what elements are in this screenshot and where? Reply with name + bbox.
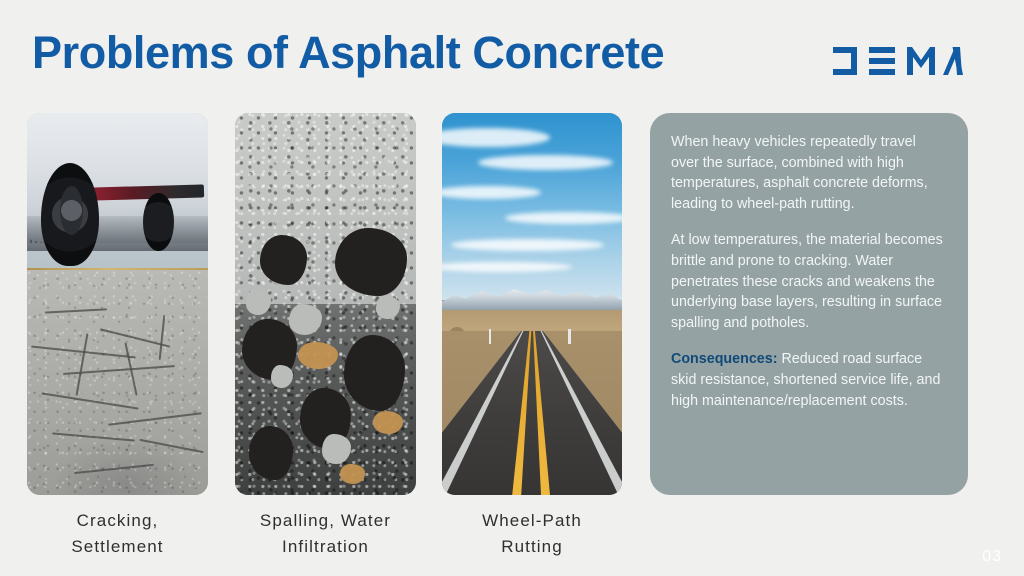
info-paragraph-1: When heavy vehicles repeatedly travel ov… [671, 132, 946, 214]
dema-wordmark-logo [831, 44, 963, 78]
slide-header: Problems of Asphalt Concrete [0, 0, 1024, 105]
photo-card-spalling-water-infiltration[interactable] [235, 113, 416, 495]
page-title: Problems of Asphalt Concrete [32, 27, 664, 79]
cracked-asphalt-with-white-suv-photo [27, 113, 208, 495]
caption-cracking-settlement: Cracking, Settlement [17, 508, 218, 564]
info-panel: When heavy vehicles repeatedly travel ov… [650, 113, 968, 495]
consequences-label: Consequences: [671, 351, 777, 367]
photo-card-wheel-path-rutting[interactable] [442, 113, 622, 495]
info-paragraph-consequences: Consequences: Reduced road surface skid … [671, 349, 946, 411]
caption-line-2: Settlement [17, 534, 218, 560]
caption-line-1: Spalling, Water [225, 508, 426, 534]
caption-line-2: Rutting [432, 534, 632, 560]
caption-line-1: Wheel-Path [432, 508, 632, 534]
spalled-asphalt-aggregate-water-photo [235, 113, 416, 495]
dema-logo-svg [831, 44, 963, 78]
desert-highway-wheel-path-rutting-photo [442, 113, 622, 495]
page-number: 03 [982, 548, 1002, 566]
caption-line-1: Cracking, [17, 508, 218, 534]
caption-line-2: Infiltration [225, 534, 426, 560]
caption-wheel-path-rutting: Wheel-Path Rutting [432, 508, 632, 564]
caption-spalling-water-infiltration: Spalling, Water Infiltration [225, 508, 426, 564]
photo-card-cracking-settlement[interactable] [27, 113, 208, 495]
info-paragraph-2: At low temperatures, the material become… [671, 230, 946, 333]
